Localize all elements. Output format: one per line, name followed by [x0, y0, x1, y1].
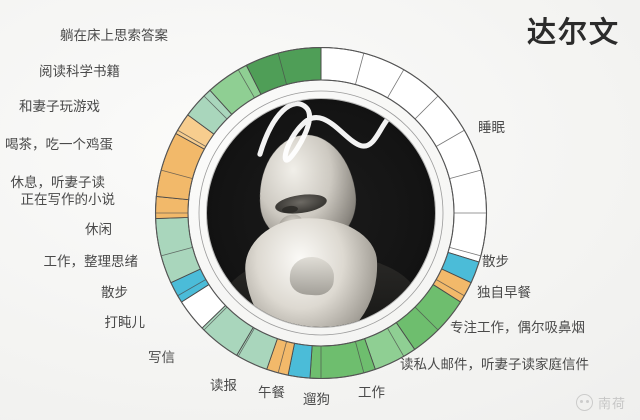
label-read-newspaper: 读报 [210, 378, 237, 394]
label-work-bottom: 工作 [358, 385, 385, 401]
label-tea-and-egg: 喝茶，吃一个鸡蛋 [5, 137, 113, 153]
label-games-with-wife: 和妻子玩游戏 [19, 99, 100, 115]
label-walk-right: 散步 [482, 254, 509, 270]
wechat-icon [576, 394, 593, 411]
label-leisure: 休闲 [85, 222, 112, 238]
label-walk-left: 散步 [101, 285, 128, 301]
label-lunch: 午餐 [258, 385, 285, 401]
label-nap: 打盹儿 [105, 315, 146, 331]
label-sleep: 睡眠 [478, 120, 505, 136]
label-work-thoughts: 工作，整理思绪 [44, 254, 139, 270]
label-reading-science: 阅读科学书籍 [39, 64, 120, 80]
label-focused-work: 专注工作，偶尔吸鼻烟 [450, 320, 585, 336]
ring-segment [246, 48, 321, 95]
page-title: 达尔文 [527, 18, 620, 47]
label-breakfast-alone: 独自早餐 [477, 285, 531, 301]
daily-routine-ring [152, 44, 490, 382]
darwin-portrait [207, 99, 435, 327]
label-rest-novel-line1: 休息，听妻子读 [11, 175, 106, 191]
label-rest-novel-line2: 正在写作的小说 [21, 192, 116, 208]
watermark-label: 南荷 [598, 393, 626, 412]
ring-segment [156, 196, 189, 218]
infographic-canvas: 达尔文 躺在床上思索答案 阅读科学书籍 和妻子玩游戏 喝茶，吃一个鸡蛋 休息，听… [0, 0, 640, 420]
watermark: 南荷 [576, 393, 626, 412]
label-lying-in-bed: 躺在床上思索答案 [60, 28, 168, 44]
label-walk-dog: 遛狗 [303, 392, 330, 408]
label-write-letters: 写信 [148, 350, 175, 366]
label-private-mail: 读私人邮件，听妻子读家庭信件 [400, 357, 589, 373]
